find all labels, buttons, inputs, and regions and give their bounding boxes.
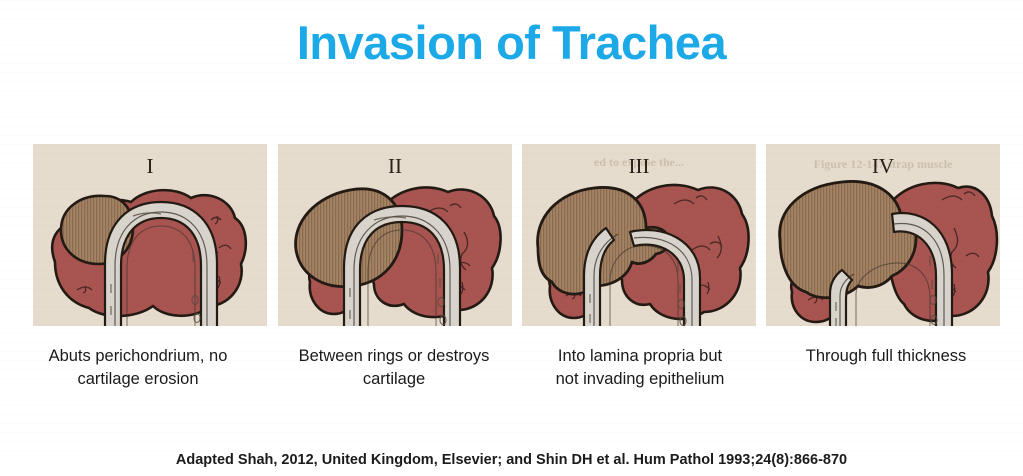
panel-stage-1[interactable]: I xyxy=(33,144,267,326)
caption-line: cartilage erosion xyxy=(15,368,261,391)
caption-line: not invading epithelium xyxy=(517,368,763,391)
panel-caption-2: Between rings or destroys cartilage xyxy=(271,345,517,392)
panel-caption-4: Through full thickness xyxy=(763,345,1009,368)
panel-numeral: I xyxy=(147,154,154,178)
panel-numeral: III xyxy=(629,154,650,178)
panel-numeral: IV xyxy=(872,154,894,178)
panel-stage-2[interactable]: II xyxy=(278,144,512,326)
panel-stage-4[interactable]: Figure 12-147 strap muscle xyxy=(766,144,1000,326)
caption-line: Through full thickness xyxy=(763,345,1009,368)
panel-caption-3: Into lamina propria but not invading epi… xyxy=(517,345,763,392)
illustration-panel-row: I xyxy=(33,144,1000,326)
caption-line: Abuts perichondrium, no xyxy=(15,345,261,368)
caption-line: cartilage xyxy=(271,368,517,391)
panel-stage-3[interactable]: ed to expose the... xyxy=(522,144,756,326)
page-title: Invasion of Trachea xyxy=(0,18,1023,67)
caption-line: Into lamina propria but xyxy=(517,345,763,368)
panel-caption-1: Abuts perichondrium, no cartilage erosio… xyxy=(15,345,261,392)
source-citation: Adapted Shah, 2012, United Kingdom, Else… xyxy=(0,452,1023,468)
panel-numeral: II xyxy=(388,154,402,178)
caption-line: Between rings or destroys xyxy=(271,345,517,368)
caption-row: Abuts perichondrium, no cartilage erosio… xyxy=(15,345,1015,405)
